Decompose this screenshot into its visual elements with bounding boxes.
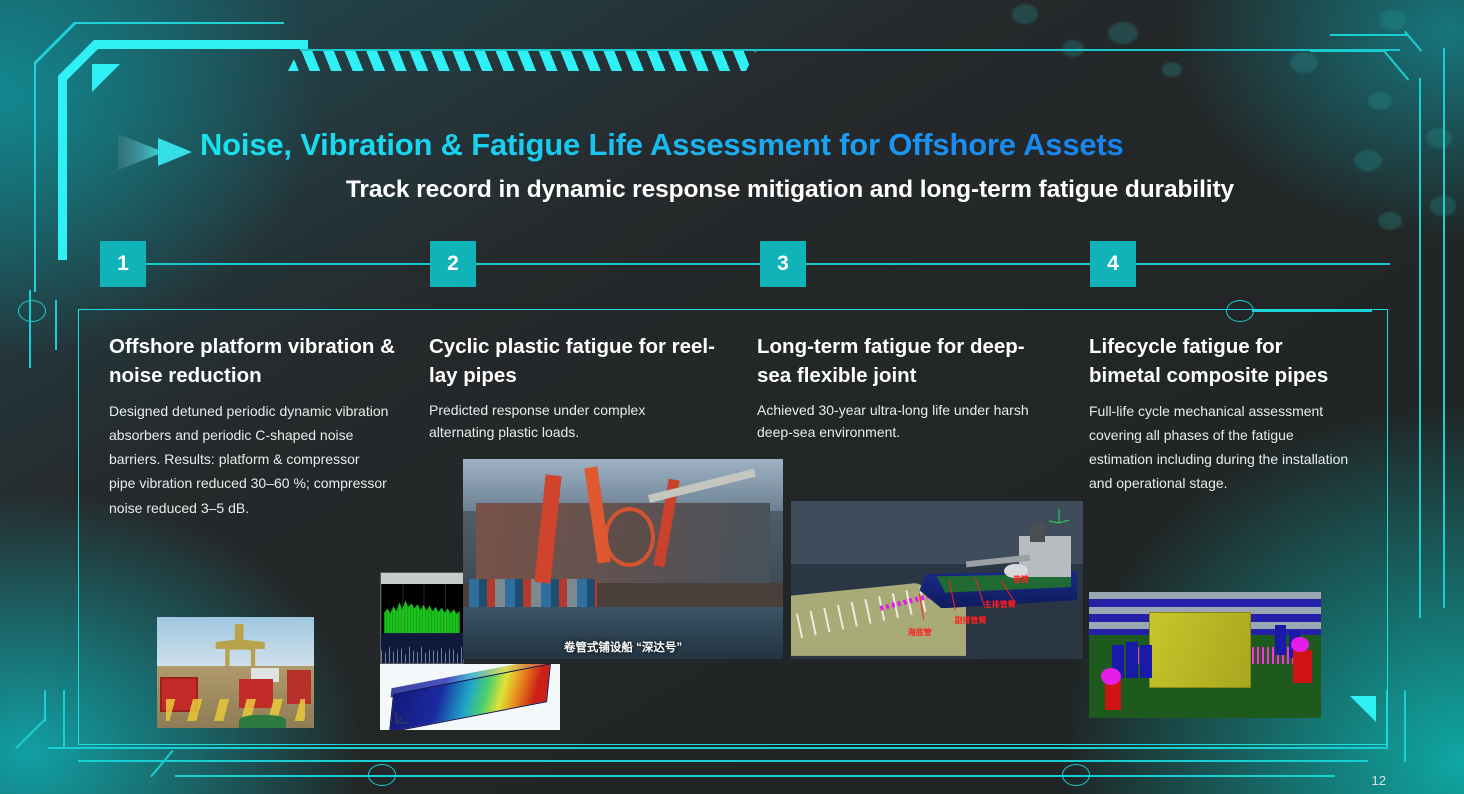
vessel-photo-reel	[604, 507, 655, 567]
frame-line-top-right-a	[1330, 34, 1408, 36]
step-marker-2[interactable]: 2	[430, 241, 476, 287]
frame-line-bottom-right-v2	[1404, 690, 1406, 762]
frame-line-right-a	[1443, 48, 1445, 608]
bimetal-fea-support-right-a	[1275, 625, 1287, 655]
frame-line-bottom-left-diag	[15, 718, 46, 749]
sim-axes-icon	[1047, 507, 1071, 527]
frame-triangle-topleft-icon	[92, 64, 120, 92]
bimetal-fea-support-left-b	[1126, 642, 1138, 677]
column-4-heading: Lifecycle fatigue for bimetal composite …	[1089, 332, 1359, 390]
frame-line-bottom-diag-mid	[150, 750, 173, 777]
bimetal-fea-block	[1149, 612, 1251, 688]
reel-lay-vessel-photo[interactable]: 卷管式铺设船 “深达号”	[463, 459, 783, 659]
frame-line-bottom-left-v2	[63, 690, 65, 748]
step-marker-3[interactable]: 3	[760, 241, 806, 287]
bimetal-fea-load-right	[1293, 650, 1312, 683]
spectrum-waterfall-trace	[381, 633, 463, 663]
sim-label-3: 副排管臂	[955, 615, 987, 626]
vessel-photo-caption: 卷管式铺设船 “深达号”	[463, 639, 783, 655]
frame-line-bottom-left-v1	[44, 690, 46, 722]
page-subtitle: Track record in dynamic response mitigat…	[200, 176, 1380, 204]
sim-label-1: 卷筒	[1013, 574, 1029, 585]
platform-photo-green-cover	[239, 715, 286, 728]
offshore-platform-photo[interactable]	[157, 617, 314, 728]
step-marker-4[interactable]: 4	[1090, 241, 1136, 287]
plate-fea-axes-icon	[394, 709, 410, 725]
sim-vessel-funnel	[1030, 523, 1045, 542]
column-4-body: Full-life cycle mechanical assessment co…	[1089, 399, 1351, 495]
column-3-body: Achieved 30-year ultra-long life under h…	[757, 399, 1043, 443]
spectrum-plot-area	[381, 584, 463, 634]
header: Noise, Vibration & Fatigue Life Assessme…	[200, 128, 1400, 204]
sim-label-2: 主排管臂	[984, 599, 1016, 610]
spectrum-waterfall	[381, 633, 463, 663]
step-indicator-bar: 1 2 3 4	[100, 241, 1390, 287]
bimetal-pipe-fea-render[interactable]	[1089, 592, 1321, 718]
frame-line-bottom-b	[78, 760, 1368, 762]
step-marker-1[interactable]: 1	[100, 241, 146, 287]
pipelay-simulation-render[interactable]: 卷筒 主排管臂 副排管臂 海底管	[791, 501, 1083, 659]
sim-label-4: 海底管	[908, 627, 932, 638]
vibration-spectrum-plot[interactable]	[380, 572, 464, 664]
column-3-heading: Long-term fatigue for deep-sea flexible …	[757, 332, 1047, 390]
frame-line-bottom-c	[175, 775, 1335, 777]
page-number: 12	[1372, 773, 1386, 788]
column-1: Offshore platform vibration & noise redu…	[109, 332, 399, 520]
hazard-stripes-decoration	[288, 51, 756, 71]
frame-line-left-b	[55, 300, 57, 350]
frame-top-rule	[300, 49, 1400, 51]
frame-line-right-d	[1382, 49, 1409, 81]
title-arrow-icon	[118, 128, 196, 176]
plate-fea-contour[interactable]	[380, 664, 560, 730]
column-2-heading: Cyclic plastic fatigue for reel-lay pipe…	[429, 332, 719, 390]
column-3: Long-term fatigue for deep-sea flexible …	[757, 332, 1047, 443]
slide-canvas: Noise, Vibration & Fatigue Life Assessme…	[0, 0, 1464, 794]
step-connector-line	[100, 263, 1390, 265]
page-title: Noise, Vibration & Fatigue Life Assessme…	[200, 128, 1400, 162]
node-ring-left	[18, 300, 46, 322]
bimetal-fea-support-left-c	[1140, 645, 1152, 678]
spectrum-gridlines	[381, 584, 463, 634]
column-1-body: Designed detuned periodic dynamic vibrat…	[109, 399, 389, 519]
spectrum-titlebar	[381, 573, 463, 584]
node-ring-bottom-left	[368, 764, 396, 786]
column-2: Cyclic plastic fatigue for reel-lay pipe…	[429, 332, 719, 443]
node-ring-bottom-right	[1062, 764, 1090, 786]
frame-line-right-b	[1419, 78, 1421, 618]
column-4: Lifecycle fatigue for bimetal composite …	[1089, 332, 1359, 496]
column-2-body: Predicted response under complex alterna…	[429, 399, 711, 443]
frame-line-bottom-a	[48, 747, 1388, 749]
frame-line-top-right-b	[1310, 50, 1386, 52]
column-1-heading: Offshore platform vibration & noise redu…	[109, 332, 399, 390]
